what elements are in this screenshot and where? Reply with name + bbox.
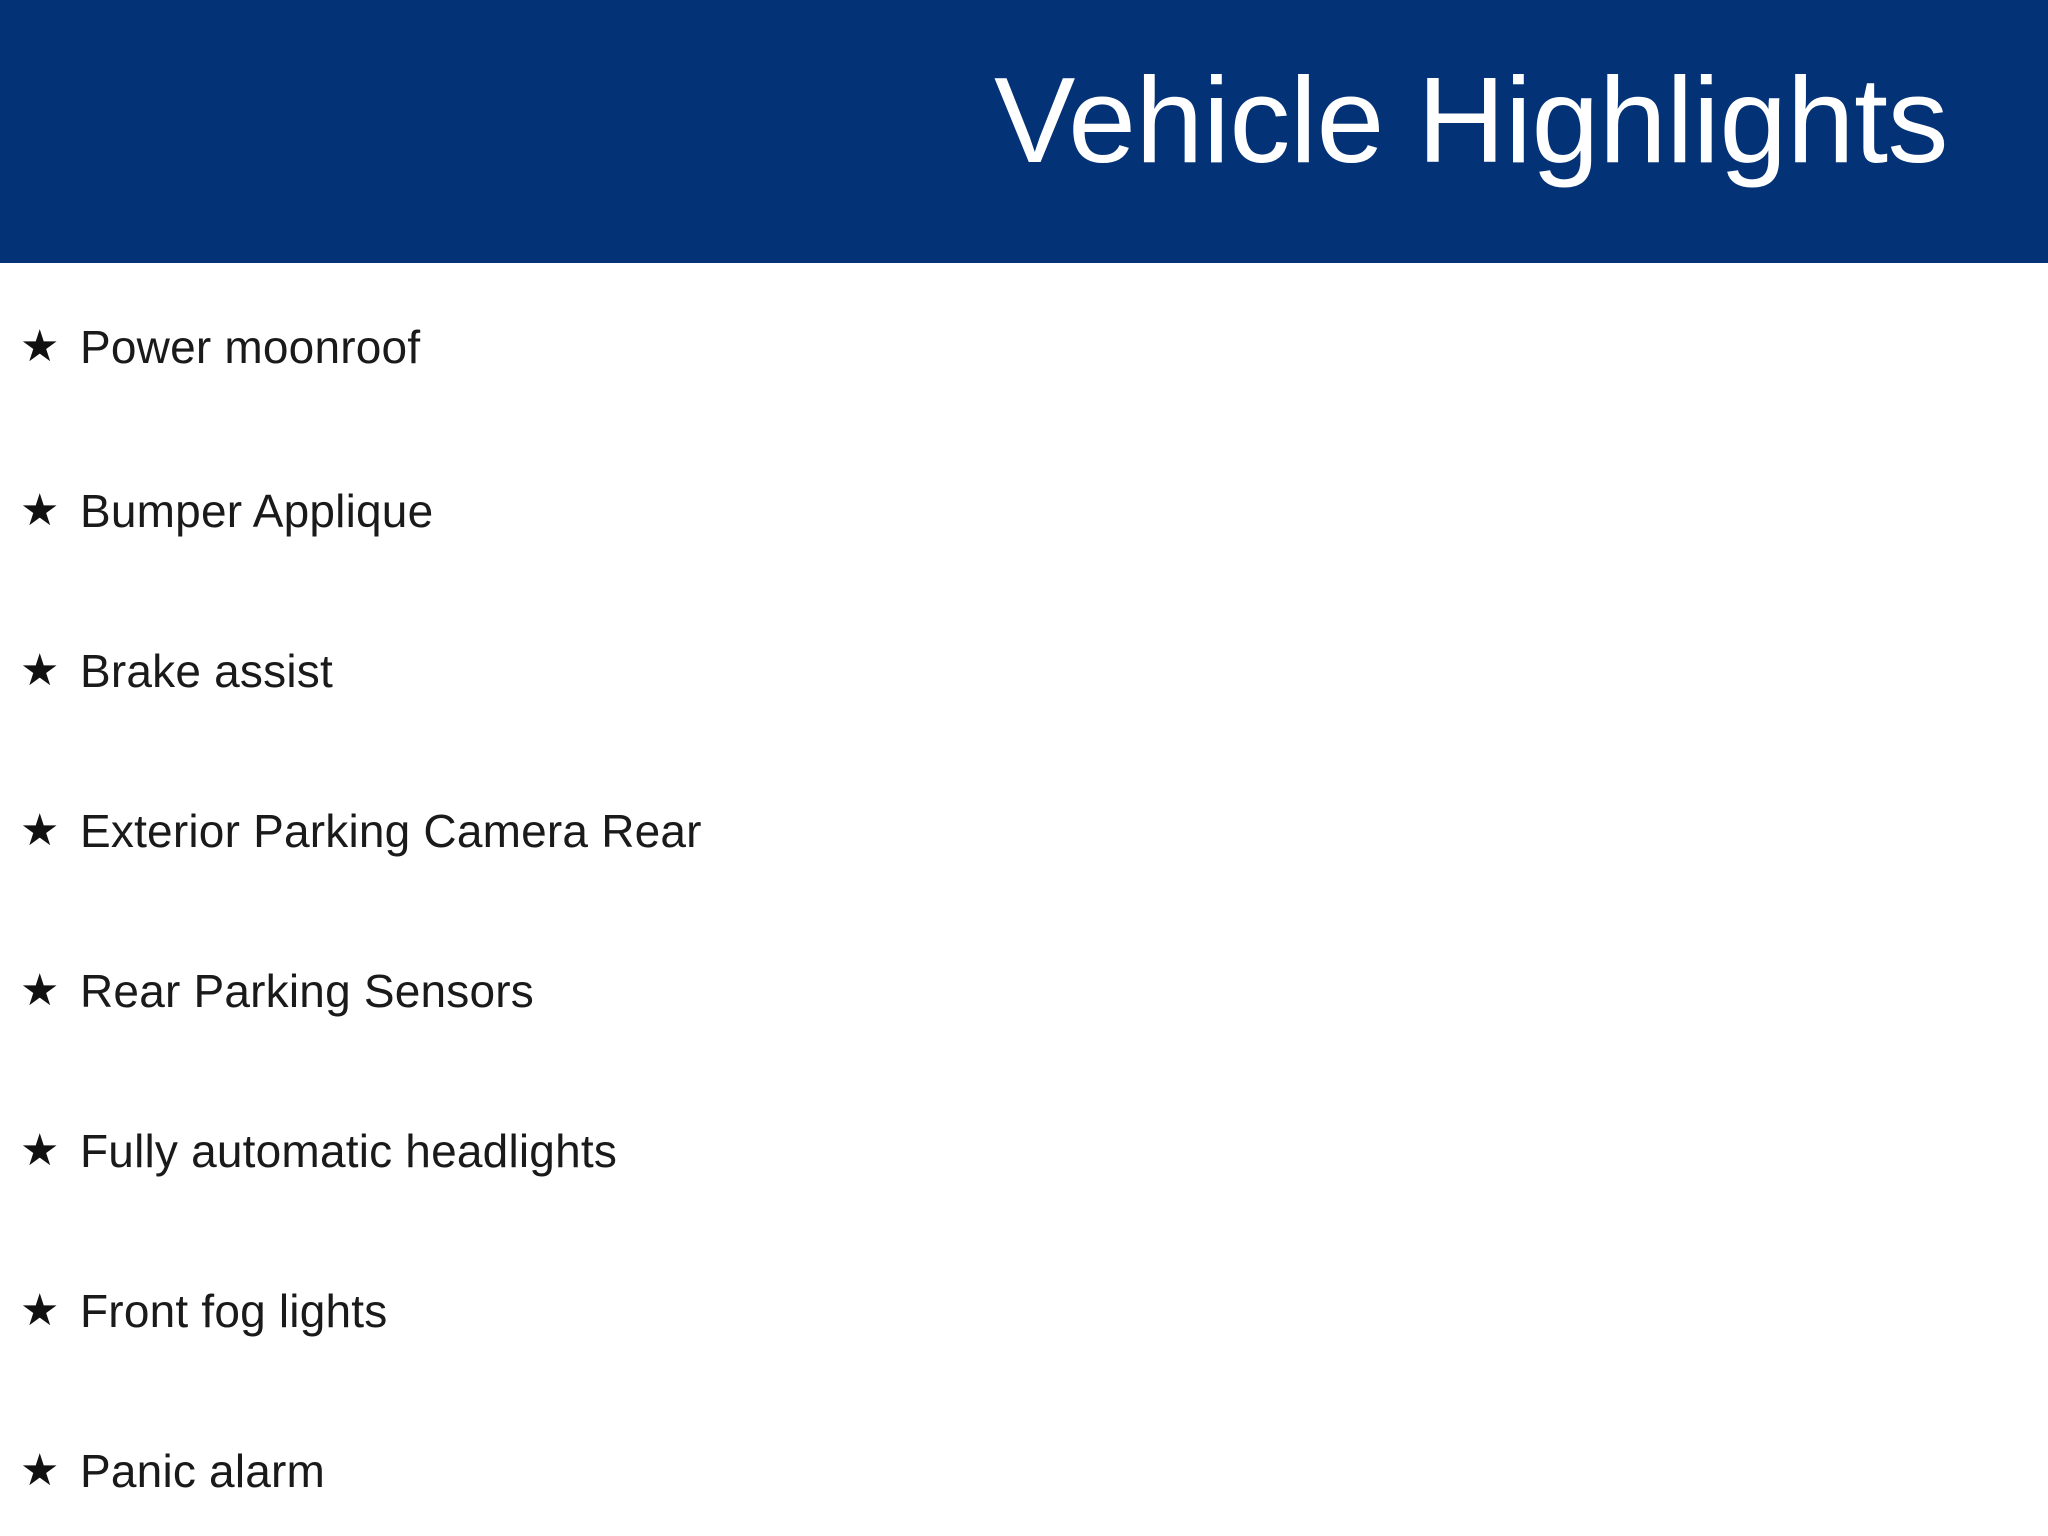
vehicle-highlights-list: ★ Power moonroof ★ Bumper Applique ★ Bra… [0, 263, 2048, 1536]
star-icon: ★ [20, 649, 80, 693]
highlight-label: Fully automatic headlights [80, 1125, 617, 1177]
highlight-label: Panic alarm [80, 1445, 325, 1497]
highlight-label: Bumper Applique [80, 485, 433, 537]
star-icon: ★ [20, 489, 80, 533]
list-item: ★ Brake assist [0, 591, 2048, 751]
page-title: Vehicle Highlights [994, 59, 1948, 181]
highlight-label: Brake assist [80, 645, 333, 697]
highlight-label: Exterior Parking Camera Rear [80, 805, 702, 857]
highlight-label: Front fog lights [80, 1285, 387, 1337]
star-icon: ★ [20, 1129, 80, 1173]
star-icon: ★ [20, 1289, 80, 1333]
vehicle-highlights-slide: Vehicle Highlights ★ Power moonroof ★ Bu… [0, 0, 2048, 1536]
star-icon: ★ [20, 809, 80, 853]
list-item: ★ Fully automatic headlights [0, 1071, 2048, 1231]
highlight-label: Rear Parking Sensors [80, 965, 534, 1017]
star-icon: ★ [20, 1449, 80, 1493]
list-item: ★ Bumper Applique [0, 431, 2048, 591]
header-band: Vehicle Highlights [0, 0, 2048, 263]
list-item: ★ Power moonroof [0, 263, 2048, 431]
star-icon: ★ [20, 325, 80, 369]
list-item: ★ Front fog lights [0, 1231, 2048, 1391]
star-icon: ★ [20, 969, 80, 1013]
list-item: ★ Exterior Parking Camera Rear [0, 751, 2048, 911]
highlight-label: Power moonroof [80, 321, 420, 373]
list-item: ★ Panic alarm [0, 1391, 2048, 1536]
list-item: ★ Rear Parking Sensors [0, 911, 2048, 1071]
